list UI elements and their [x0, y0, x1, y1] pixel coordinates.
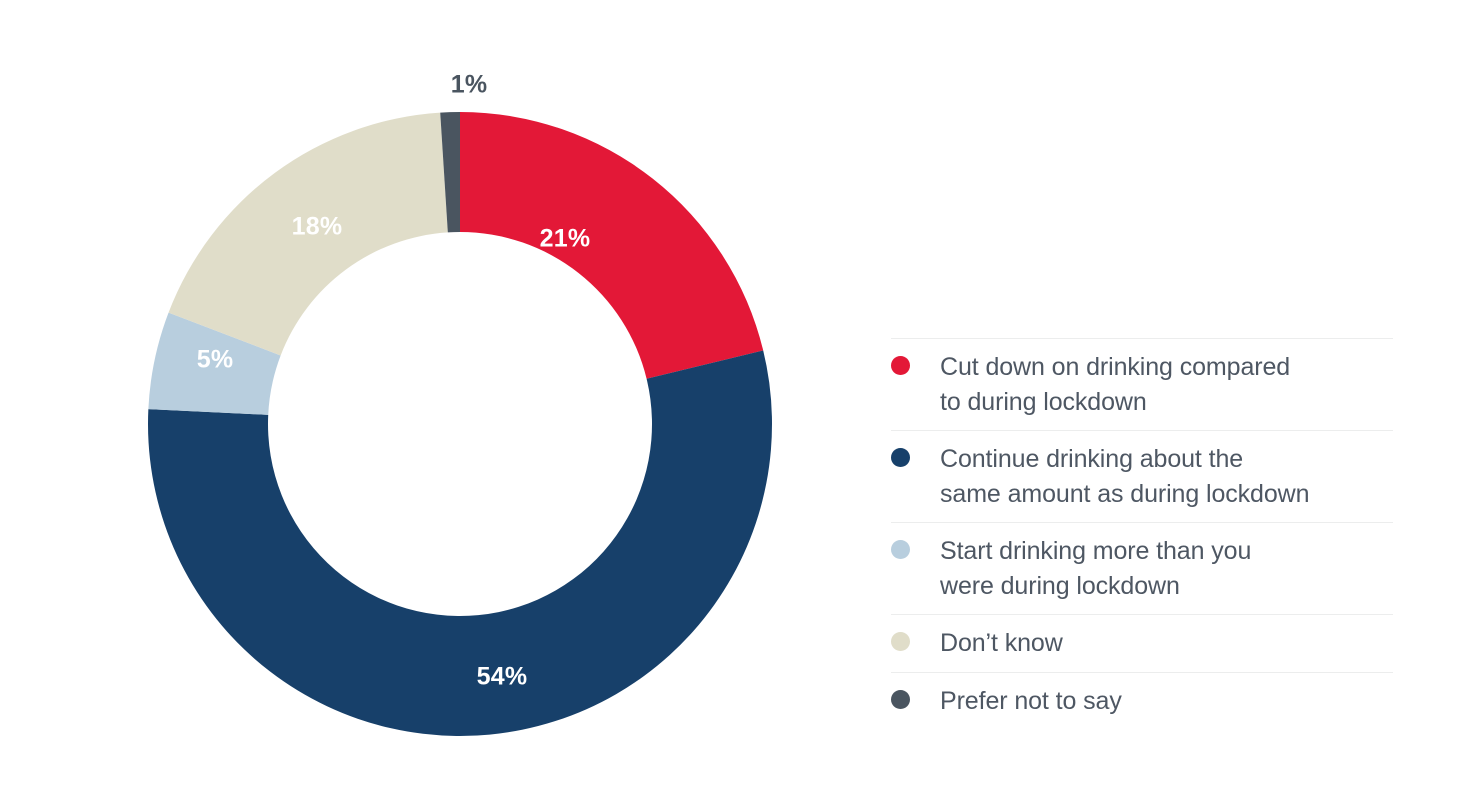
legend-swatch-continue-same [891, 448, 910, 467]
legend-item-dont-know[interactable]: Don’t know [891, 614, 1393, 672]
donut-value-label-dont-know: 18% [292, 213, 343, 241]
legend-label-dont-know: Don’t know [940, 626, 1393, 661]
donut-value-label-continue-same: 54% [477, 663, 528, 691]
donut-slice-group [148, 112, 772, 736]
donut-chart-area: 21%54%5%18%1% [60, 20, 860, 780]
legend-swatch-start-more [891, 540, 910, 559]
donut-slice-cut-down[interactable] [460, 112, 763, 379]
legend-label-continue-same: Continue drinking about the same amount … [940, 442, 1393, 511]
legend-item-prefer-not-say[interactable]: Prefer not to say [891, 672, 1393, 730]
legend-item-cut-down[interactable]: Cut down on drinking compared to during … [891, 338, 1393, 430]
donut-value-label-cut-down: 21% [540, 225, 591, 253]
donut-value-label-prefer-not-say: 1% [451, 71, 488, 99]
legend-item-continue-same[interactable]: Continue drinking about the same amount … [891, 430, 1393, 522]
legend-label-cut-down: Cut down on drinking compared to during … [940, 350, 1393, 419]
donut-value-label-start-more: 5% [197, 346, 234, 374]
legend-item-start-more[interactable]: Start drinking more than you were during… [891, 522, 1393, 614]
legend-swatch-cut-down [891, 356, 910, 375]
legend-swatch-prefer-not-say [891, 690, 910, 709]
donut-chart-svg: 21%54%5%18%1% [60, 20, 860, 780]
legend-swatch-dont-know [891, 632, 910, 651]
legend-label-start-more: Start drinking more than you were during… [940, 534, 1393, 603]
legend-label-prefer-not-say: Prefer not to say [940, 684, 1393, 719]
donut-chart-figure: 21%54%5%18%1% Cut down on drinking compa… [0, 0, 1460, 800]
chart-legend: Cut down on drinking compared to during … [891, 338, 1393, 729]
